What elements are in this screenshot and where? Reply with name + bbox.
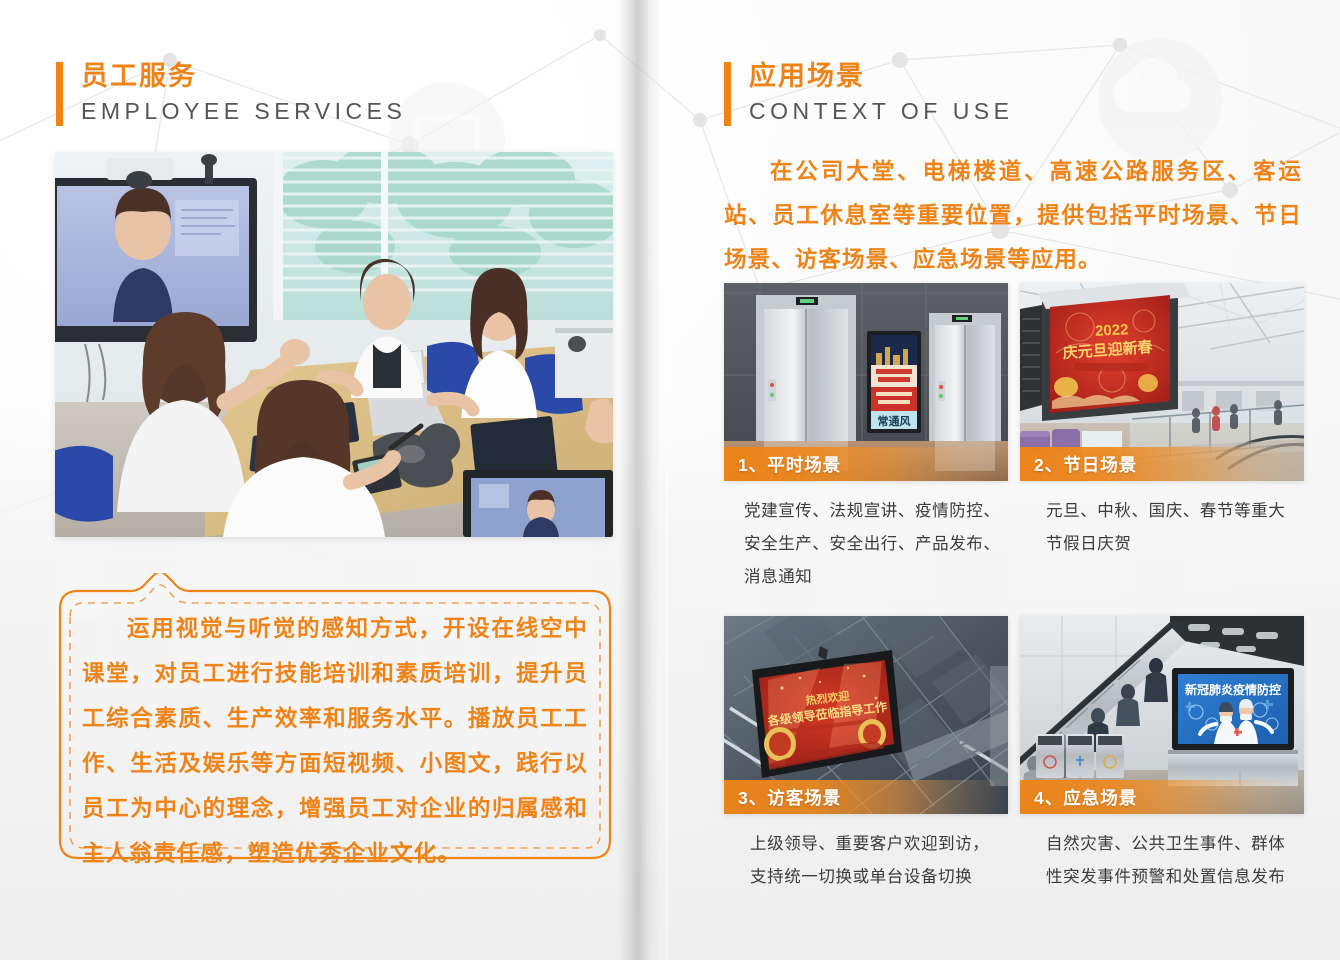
scene-card-caption-4: 4、应急场景 [1020,780,1304,814]
scene-card-festival: 2022 庆元旦迎新春 [1020,283,1304,594]
scene-card-desc-1: 党建宣传、法规宣讲、疫情防控、安全生产、安全出行、产品发布、消息通知 [724,495,1008,594]
scene-card-emergency: 新冠肺炎疫情防控 [1020,616,1304,894]
employee-services-note-box: 运用视觉与听觉的感知方式，开设在线空中课堂，对员工进行技能培训和素质培训，提升员… [56,573,614,862]
scene-card-visitor: 热烈欢迎 各级领导莅临指导工作 [724,616,1008,894]
section-title-en-left: EMPLOYEE SERVICES [81,97,406,127]
scene-cards-row-top: 常通风 [724,283,1304,594]
brochure-page: 员工服务 EMPLOYEE SERVICES [0,0,1340,960]
scene-card-everyday: 常通风 [724,283,1008,594]
scene-card-caption-3: 3、访客场景 [724,780,1008,814]
page-spine-gutter [618,0,670,960]
section-title-cn-right: 应用场景 [749,60,1014,94]
svg-text:新冠肺炎疫情防控: 新冠肺炎疫情防控 [1185,682,1281,697]
scene-card-desc-2: 元旦、中秋、国庆、春节等重大节假日庆贺 [1020,495,1304,561]
left-page: 员工服务 EMPLOYEE SERVICES [0,0,620,960]
video-conference-meeting-photo [55,152,613,537]
escalator-health-notice-screen-photo: 新冠肺炎疫情防控 [1020,616,1304,814]
right-page: 应用场景 CONTEXT OF USE 在公司大堂、电梯楼道、高速公路服务区、客… [668,0,1340,960]
ceiling-mounted-welcome-screen-photo: 热烈欢迎 各级领导莅临指导工作 [724,616,1008,814]
svg-text:常通风: 常通风 [878,414,911,428]
section-title-en-right: CONTEXT OF USE [749,97,1014,127]
scene-card-desc-3: 上级领导、重要客户欢迎到访，支持统一切换或单台设备切换 [724,828,1008,894]
employee-services-header: 员工服务 EMPLOYEE SERVICES [56,60,406,127]
scene-card-caption-1: 1、平时场景 [724,447,1008,481]
accent-bar-left [56,62,63,126]
scene-card-desc-4: 自然灾害、公共卫生事件、群体性突发事件预警和处置信息发布 [1020,828,1304,894]
section-title-cn-left: 员工服务 [81,60,406,94]
employee-services-note-text: 运用视觉与听觉的感知方式，开设在线空中课堂，对员工进行技能培训和素质培训，提升员… [82,606,588,876]
svg-text:2022: 2022 [1095,321,1129,340]
context-of-use-header: 应用场景 CONTEXT OF USE [724,60,1014,127]
scene-cards-grid: 常通风 [724,283,1304,894]
accent-bar-right [724,62,731,126]
scene-cards-row-bottom: 热烈欢迎 各级领导莅临指导工作 [724,616,1304,894]
scene-card-caption-2: 2、节日场景 [1020,447,1304,481]
airport-terminal-led-display-photo: 2022 庆元旦迎新春 [1020,283,1304,481]
elevator-lobby-signage-photo: 常通风 [724,283,1008,481]
context-intro-paragraph: 在公司大堂、电梯楼道、高速公路服务区、客运站、员工休息室等重要位置，提供包括平时… [724,150,1302,282]
